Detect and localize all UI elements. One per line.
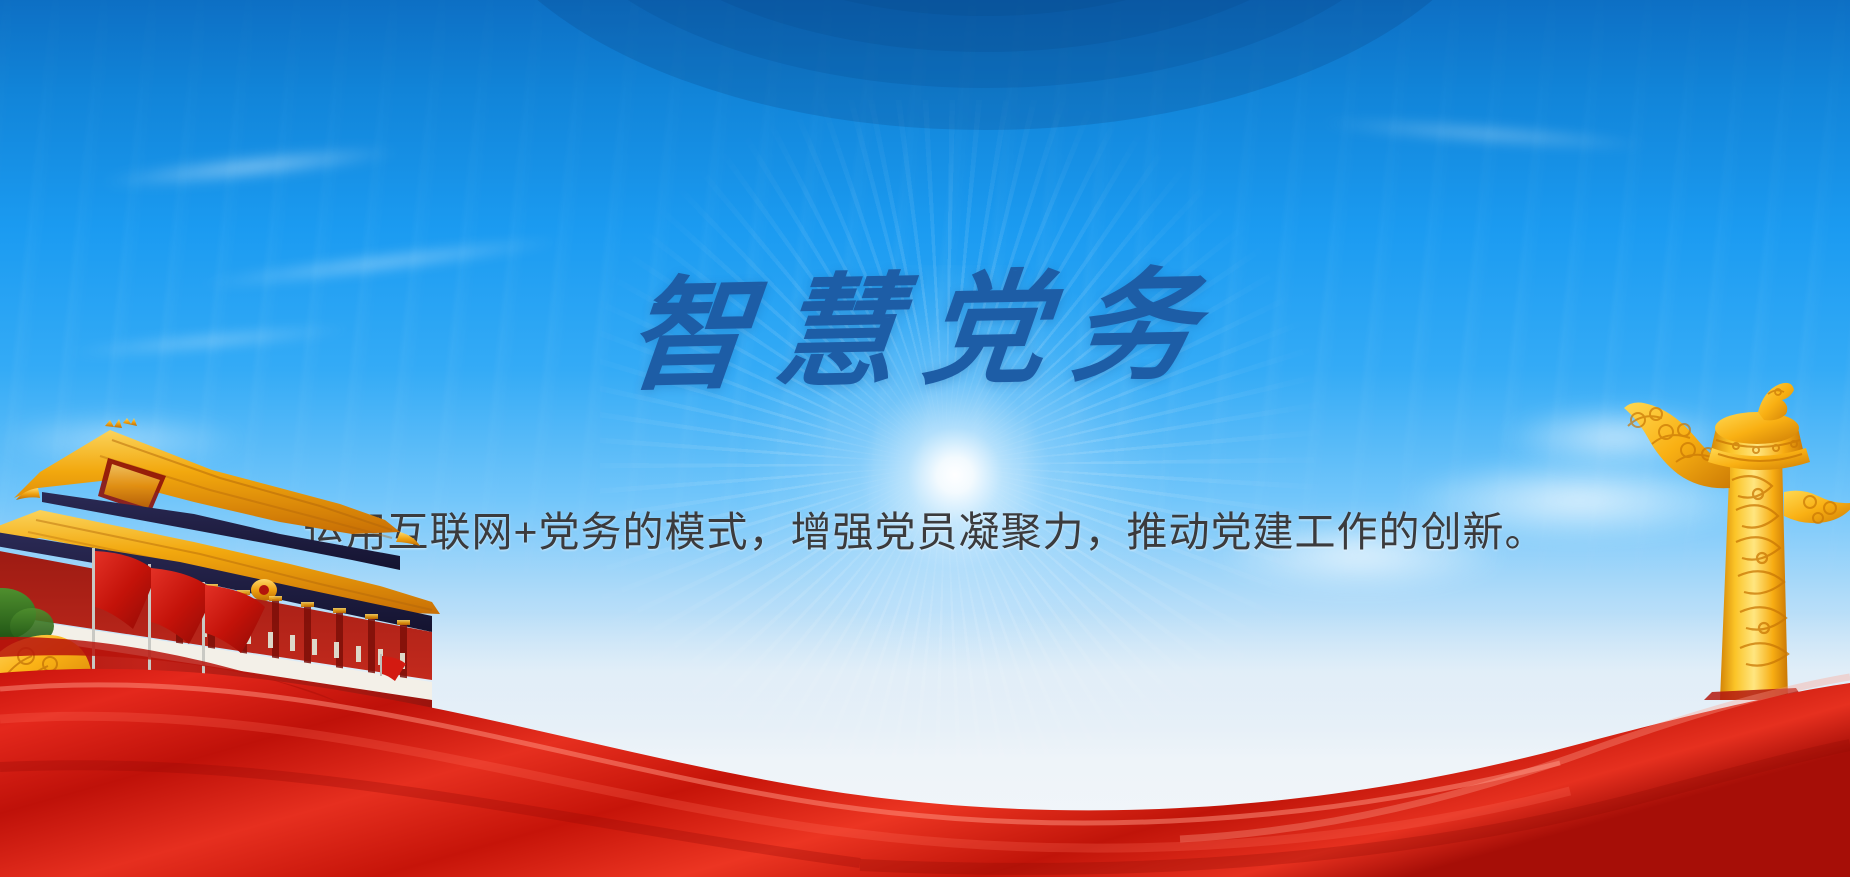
red-silk-ribbon — [0, 577, 1850, 877]
huabiao-cloud-wing-right — [1784, 491, 1850, 523]
banner-hero: 智慧党务 运用互联网+党务的模式，增强党员凝聚力，推动党建工作的创新。 — [0, 0, 1850, 877]
huabiao-beast — [1758, 383, 1794, 421]
